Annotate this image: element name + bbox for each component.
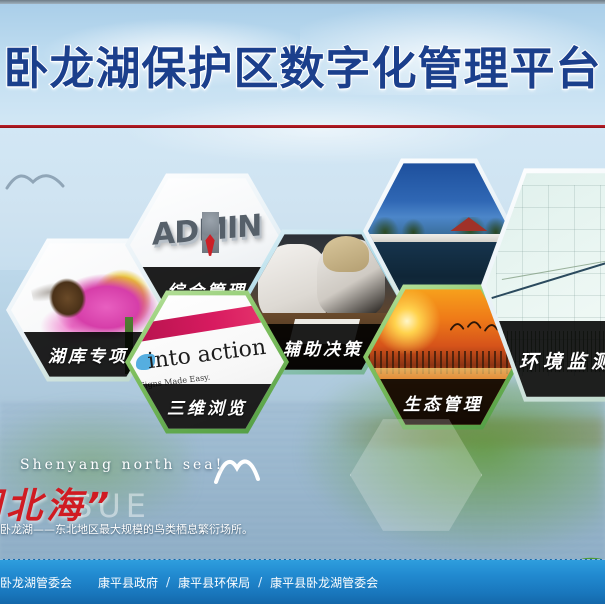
footer-link-epb[interactable]: 康平县环保局 [178,574,250,591]
slogan-english: Shenyang north sea! [20,457,224,473]
slogan-note: 卧龙湖——东北地区最大规模的鸟类栖息繁衍场所。 [0,521,253,537]
slogan-block: SUE Shenyang north sea! 阳北海” 卧龙湖——东北地区最大… [0,455,320,541]
footer-link-government[interactable]: 康平县政府 [98,574,158,591]
hair-illustration [323,236,369,272]
footer-separator: / [258,575,262,589]
page-title: 卧龙湖保护区数字化管理平台 [0,38,605,100]
window-top-edge [0,0,605,4]
bird-silhouette-icon [5,168,65,200]
footer-separator: / [166,575,170,589]
bee-illustration [28,266,98,327]
footer-link-wolonghu-mgmt[interactable]: 康平县卧龙湖管委会 [270,574,378,591]
footer-bar: 康平县卧龙湖管委会 康平县政府 / 康平县环保局 / 康平县卧龙湖管委会 [0,559,605,604]
footer-owner-text: 康平县卧龙湖管委会 [0,574,72,591]
header-divider [0,125,605,128]
footer-links: 康平县政府 / 康平县环保局 / 康平县卧龙湖管委会 [98,574,378,591]
page-root: 卧龙湖保护区数字化管理平台 湖库专项 ADMIN 综合管理 辅助决策 [0,0,605,604]
site-header: 卧龙湖保护区数字化管理平台 [0,38,605,128]
bridge-railing-illustration [368,234,510,242]
